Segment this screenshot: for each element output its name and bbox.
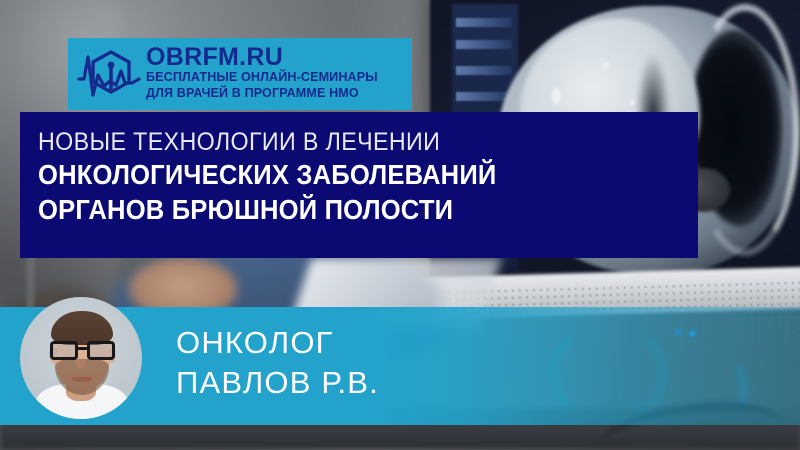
- ct-scan-lesion: [630, 100, 635, 105]
- avatar-glasses-lens: [87, 341, 115, 360]
- webinar-title-card: OBRFM.RU БЕСПЛАТНЫЕ ОНЛАЙН-СЕМИНАРЫ ДЛЯ …: [0, 0, 800, 450]
- ct-scan-lesion: [552, 88, 561, 104]
- brand-tagline-line-1: БЕСПЛАТНЫЕ ОНЛАЙН-СЕМИНАРЫ: [146, 70, 378, 85]
- hexagon-ecg-icon: [76, 45, 142, 103]
- brand-logo-banner: OBRFM.RU БЕСПЛАТНЫЕ ОНЛАЙН-СЕМИНАРЫ ДЛЯ …: [68, 38, 412, 110]
- avatar-glasses-lens: [50, 341, 78, 360]
- ct-scan-rib-arc: [690, 4, 800, 256]
- ct-panel-row: [456, 40, 512, 49]
- presenter-banner: ОНКОЛОГ ПАВЛОВ Р.В.: [0, 307, 800, 425]
- ct-panel-row: [456, 66, 512, 75]
- ct-scan-lesion: [603, 62, 609, 68]
- avatar-glasses-bridge: [78, 347, 87, 350]
- avatar-nose: [75, 359, 86, 368]
- title-line-1: НОВЫЕ ТЕХНОЛОГИИ В ЛЕЧЕНИИ: [38, 128, 652, 157]
- brand-text-group: OBRFM.RU БЕСПЛАТНЫЕ ОНЛАЙН-СЕМИНАРЫ ДЛЯ …: [146, 45, 378, 103]
- ct-panel-row: [456, 18, 512, 27]
- title-line-2: ОНКОЛОГИЧЕСКИХ ЗАБОЛЕВАНИЙ: [38, 157, 652, 192]
- doctor-portrait-avatar: [20, 297, 142, 419]
- webinar-title-block: НОВЫЕ ТЕХНОЛОГИИ В ЛЕЧЕНИИ ОНКОЛОГИЧЕСКИ…: [20, 112, 698, 258]
- avatar-glasses-icon: [48, 341, 117, 360]
- brand-site-name: OBRFM.RU: [146, 45, 378, 71]
- presenter-text-group: ОНКОЛОГ ПАВЛОВ Р.В.: [176, 323, 379, 404]
- presenter-name: ПАВЛОВ Р.В.: [176, 363, 379, 403]
- presenter-role: ОНКОЛОГ: [176, 323, 379, 363]
- avatar-hair: [51, 311, 113, 345]
- avatar-mouth: [72, 377, 92, 382]
- title-line-3: ОРГАНОВ БРЮШНОЙ ПОЛОСТИ: [38, 192, 652, 227]
- brand-tagline-line-2: ДЛЯ ВРАЧЕЙ В ПРОГРАММЕ НМО: [146, 86, 378, 101]
